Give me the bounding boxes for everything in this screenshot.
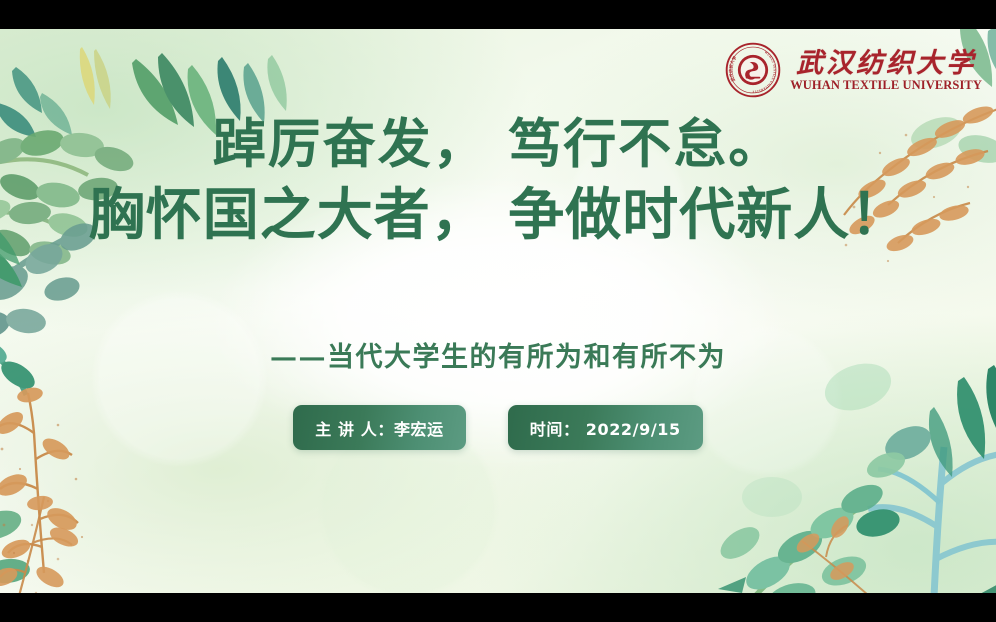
university-name-en: WUHAN TEXTILE UNIVERSITY <box>790 79 982 92</box>
letterbox-bar-bottom <box>0 593 996 622</box>
university-name-block: 武汉纺织大学 WUHAN TEXTILE UNIVERSITY <box>790 49 982 92</box>
letterbox-bar-top <box>0 0 996 29</box>
headline-line-1: 踔厉奋发， 笃行不怠。 <box>0 112 996 177</box>
university-seal-icon: 武汉纺织大学 WUHAN TEXTILE UNIVERSITY <box>725 42 781 98</box>
slide-frame: 武汉纺织大学 WUHAN TEXTILE UNIVERSITY 武汉纺织大学 W… <box>0 0 996 622</box>
university-name-cn: 武汉纺织大学 <box>796 49 976 78</box>
slide-canvas: 武汉纺织大学 WUHAN TEXTILE UNIVERSITY 武汉纺织大学 W… <box>0 29 996 593</box>
headline-block: 踔厉奋发， 笃行不怠。 胸怀国之大者， 争做时代新人！ <box>0 112 996 249</box>
university-logo-lockup: 武汉纺织大学 WUHAN TEXTILE UNIVERSITY 武汉纺织大学 W… <box>725 42 982 98</box>
meta-pill-row: 主 讲 人：李宏运 时间： 2022/9/15 <box>0 405 996 450</box>
date-pill: 时间： 2022/9/15 <box>508 405 703 450</box>
subtitle: ——当代大学生的有所为和有所不为 <box>0 335 996 374</box>
speaker-pill: 主 讲 人：李宏运 <box>293 405 466 450</box>
headline-line-2: 胸怀国之大者， 争做时代新人！ <box>0 181 996 249</box>
